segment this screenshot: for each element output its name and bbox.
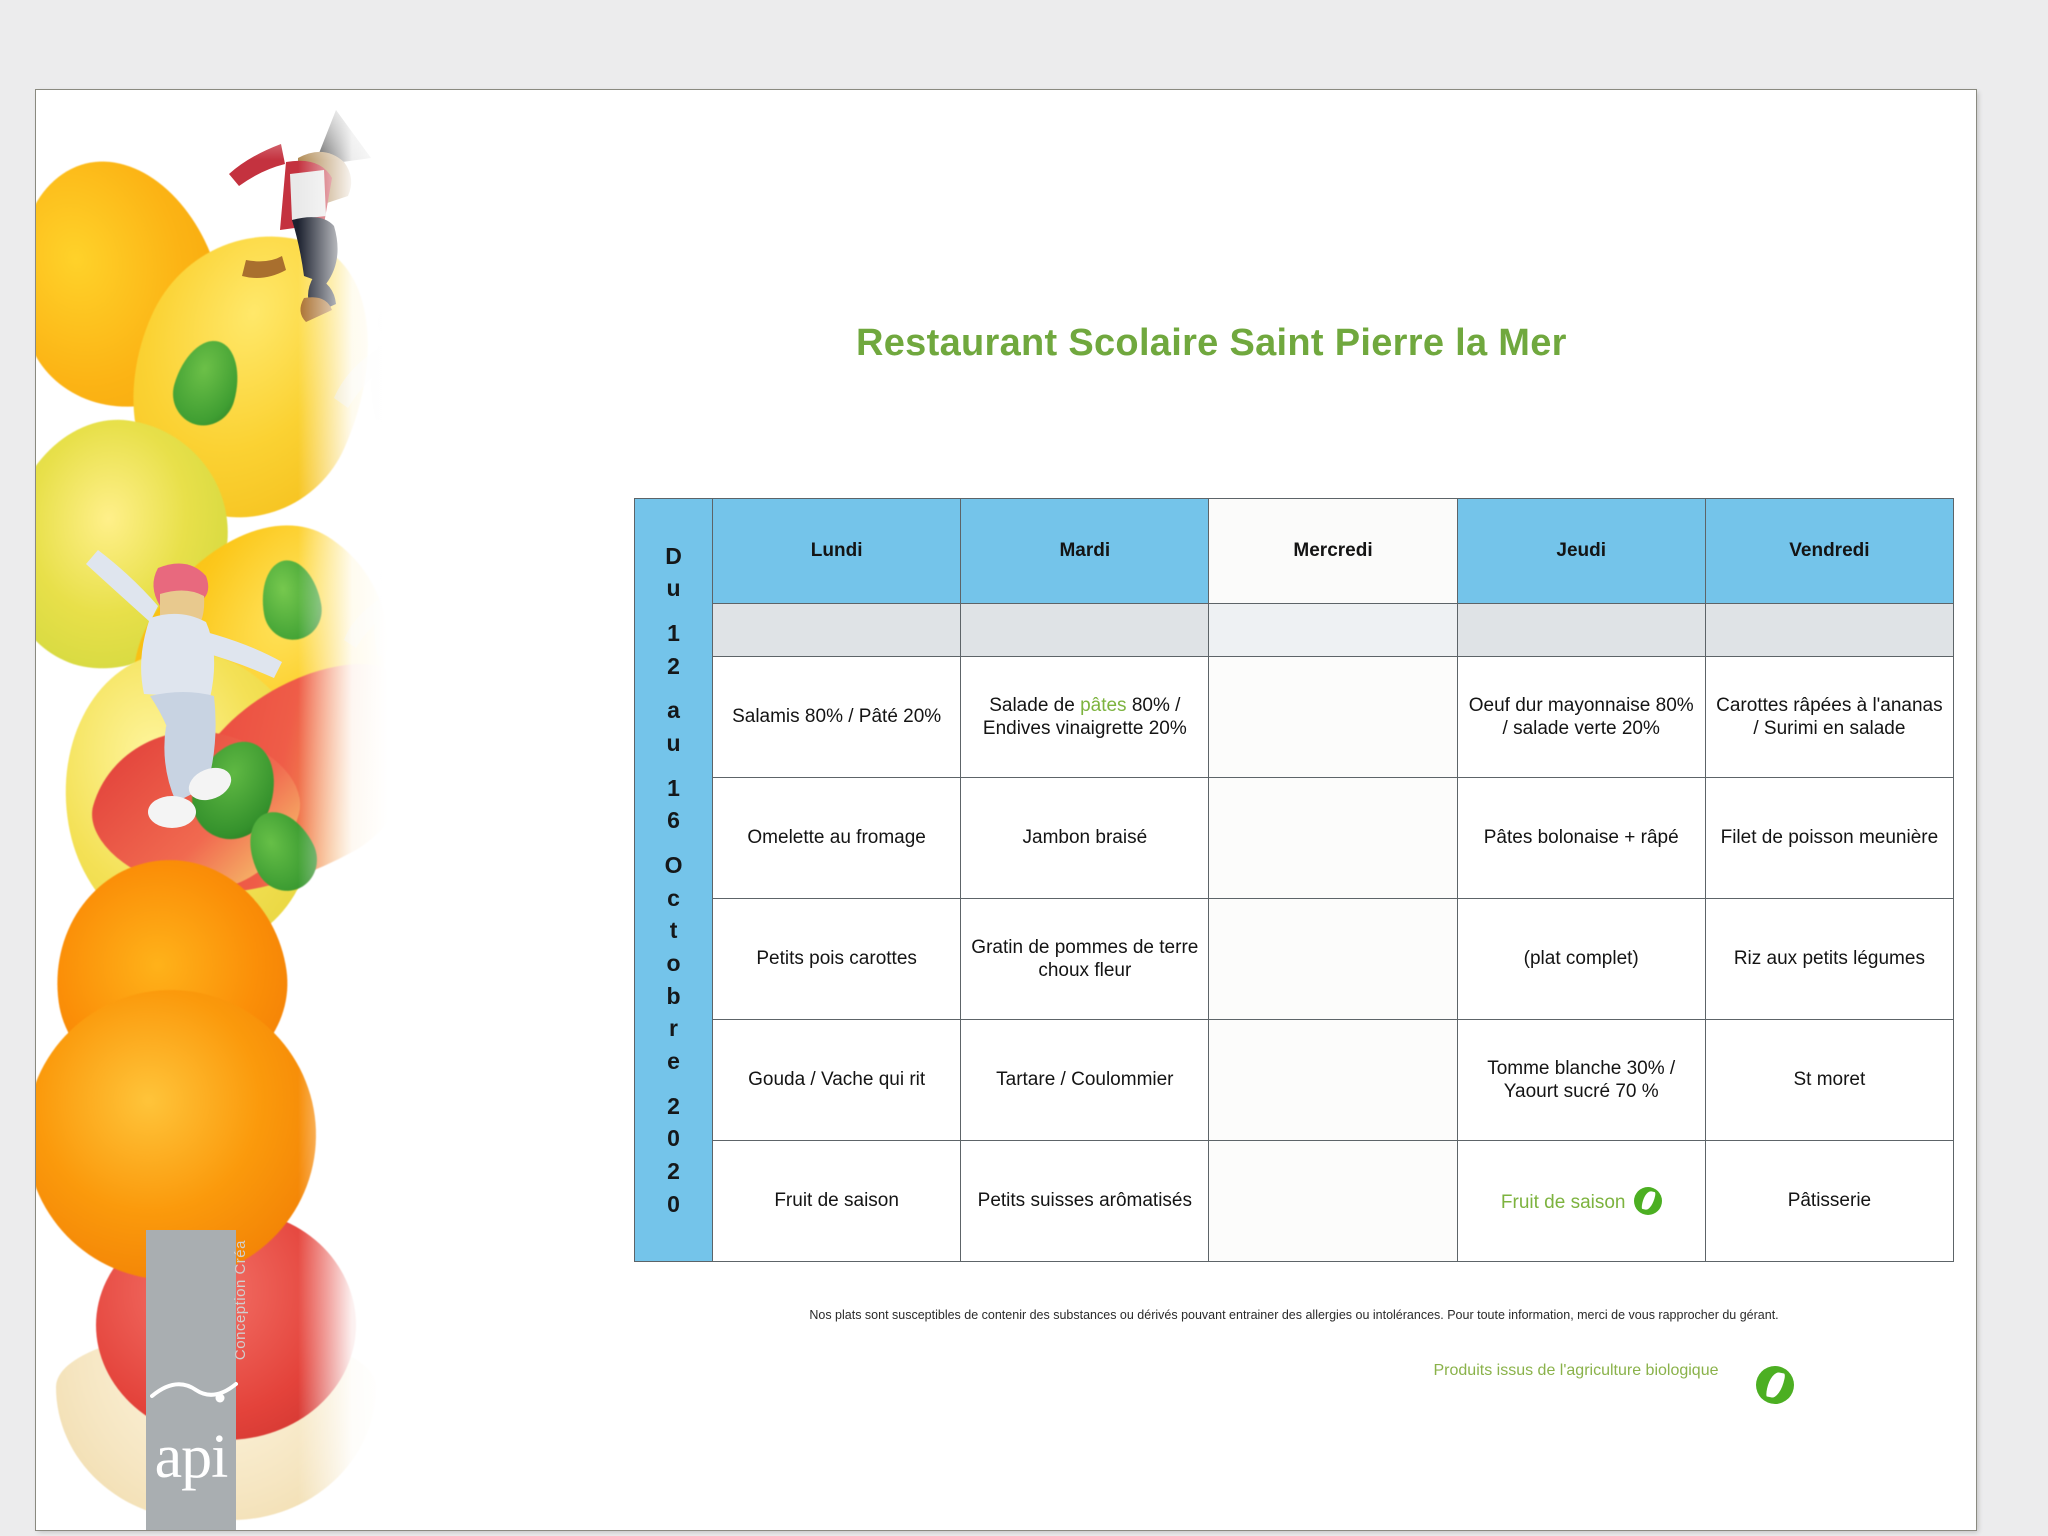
menu-cell-mercredi-fromage: [1209, 1020, 1457, 1141]
menu-cell-lundi-dessert: Fruit de saison: [713, 1141, 961, 1262]
menu-cell-vendredi-fromage: St moret: [1705, 1020, 1953, 1141]
menu-cell-vendredi-plat: Filet de poisson meunière: [1705, 778, 1953, 899]
day-header-jeudi: Jeudi: [1457, 499, 1705, 604]
menu-cell-vendredi-accompagnement: Riz aux petits légumes: [1705, 899, 1953, 1020]
spacer-cell: [1209, 604, 1457, 657]
menu-cell-mercredi-accompagnement: [1209, 899, 1457, 1020]
dancer-figure-image: [66, 540, 296, 840]
bio-leaf-icon: [1748, 1366, 1794, 1404]
scanned-menu-page: api Conception Créa Restaurant Scolaire …: [36, 90, 1976, 1530]
menu-cell-lundi-plat: Omelette au fromage: [713, 778, 961, 899]
day-header-vendredi: Vendredi: [1705, 499, 1953, 604]
day-header-mercredi: Mercredi: [1209, 499, 1457, 604]
spacer-cell: [961, 604, 1209, 657]
design-credit: Conception Créa: [232, 1240, 249, 1360]
day-header-mardi: Mardi: [961, 499, 1209, 604]
day-header-lundi: Lundi: [713, 499, 961, 604]
spacer-cell: [1457, 604, 1705, 657]
menu-cell-jeudi-entree: Oeuf dur mayonnaise 80% / salade verte 2…: [1457, 657, 1705, 778]
menu-cell-jeudi-dessert: Fruit de saison: [1457, 1141, 1705, 1262]
page-title: Restaurant Scolaire Saint Pierre la Mer: [856, 322, 1567, 365]
spacer-cell: [1705, 604, 1953, 657]
weekly-menu-table: Du12au16Octobre2020 Lundi Mardi Mercredi…: [634, 498, 1954, 1262]
bio-leaf-icon: [1634, 1187, 1662, 1215]
table-row: Salamis 80% / Pâté 20% Salade de pâtes 8…: [635, 657, 1954, 778]
collage-fade-overlay-top: [36, 90, 388, 160]
menu-cell-vendredi-entree: Carottes râpées à l'ananas / Surimi en s…: [1705, 657, 1953, 778]
api-swoosh-icon: [150, 1378, 240, 1404]
menu-cell-lundi-fromage: Gouda / Vache qui rit: [713, 1020, 961, 1141]
menu-cell-vendredi-dessert: Pâtisserie: [1705, 1141, 1953, 1262]
table-row: Gouda / Vache qui rit Tartare / Coulommi…: [635, 1020, 1954, 1141]
api-logo-text: api: [146, 1426, 236, 1488]
menu-cell-lundi-entree: Salamis 80% / Pâté 20%: [713, 657, 961, 778]
menu-cell-jeudi-plat: Pâtes bolonaise + râpé: [1457, 778, 1705, 899]
date-range-rail: Du12au16Octobre2020: [635, 499, 713, 1262]
spacer-cell: [713, 604, 961, 657]
menu-cell-mardi-entree: Salade de pâtes 80% / Endives vinaigrett…: [961, 657, 1209, 778]
menu-cell-mercredi-entree: [1209, 657, 1457, 778]
menu-cell-jeudi-accompagnement: (plat complet): [1457, 899, 1705, 1020]
bio-legend-text: Produits issus de l'agriculture biologiq…: [1426, 1360, 1726, 1382]
menu-cell-mardi-accompagnement: Gratin de pommes de terre choux fleur: [961, 899, 1209, 1020]
collage-fade-overlay: [298, 90, 388, 1530]
menu-cell-mardi-plat: Jambon braisé: [961, 778, 1209, 899]
menu-cell-mercredi-plat: [1209, 778, 1457, 899]
menu-cell-mardi-fromage: Tartare / Coulommier: [961, 1020, 1209, 1141]
menu-cell-mardi-dessert: Petits suisses arômatisés: [961, 1141, 1209, 1262]
table-row: Omelette au fromage Jambon braisé Pâtes …: [635, 778, 1954, 899]
table-row: Fruit de saison Petits suisses arômatisé…: [635, 1141, 1954, 1262]
table-row: Petits pois carottes Gratin de pommes de…: [635, 899, 1954, 1020]
date-range-vertical-text: Du12au16Octobre2020: [641, 540, 706, 1220]
menu-cell-lundi-accompagnement: Petits pois carottes: [713, 899, 961, 1020]
menu-cell-mercredi-dessert: [1209, 1141, 1457, 1262]
api-logo: api: [146, 1230, 236, 1530]
table-header-row: Du12au16Octobre2020 Lundi Mardi Mercredi…: [635, 499, 1954, 604]
table-spacer-row: [635, 604, 1954, 657]
menu-cell-jeudi-fromage: Tomme blanche 30% / Yaourt sucré 70 %: [1457, 1020, 1705, 1141]
allergen-disclaimer: Nos plats sont susceptibles de contenir …: [634, 1308, 1954, 1322]
